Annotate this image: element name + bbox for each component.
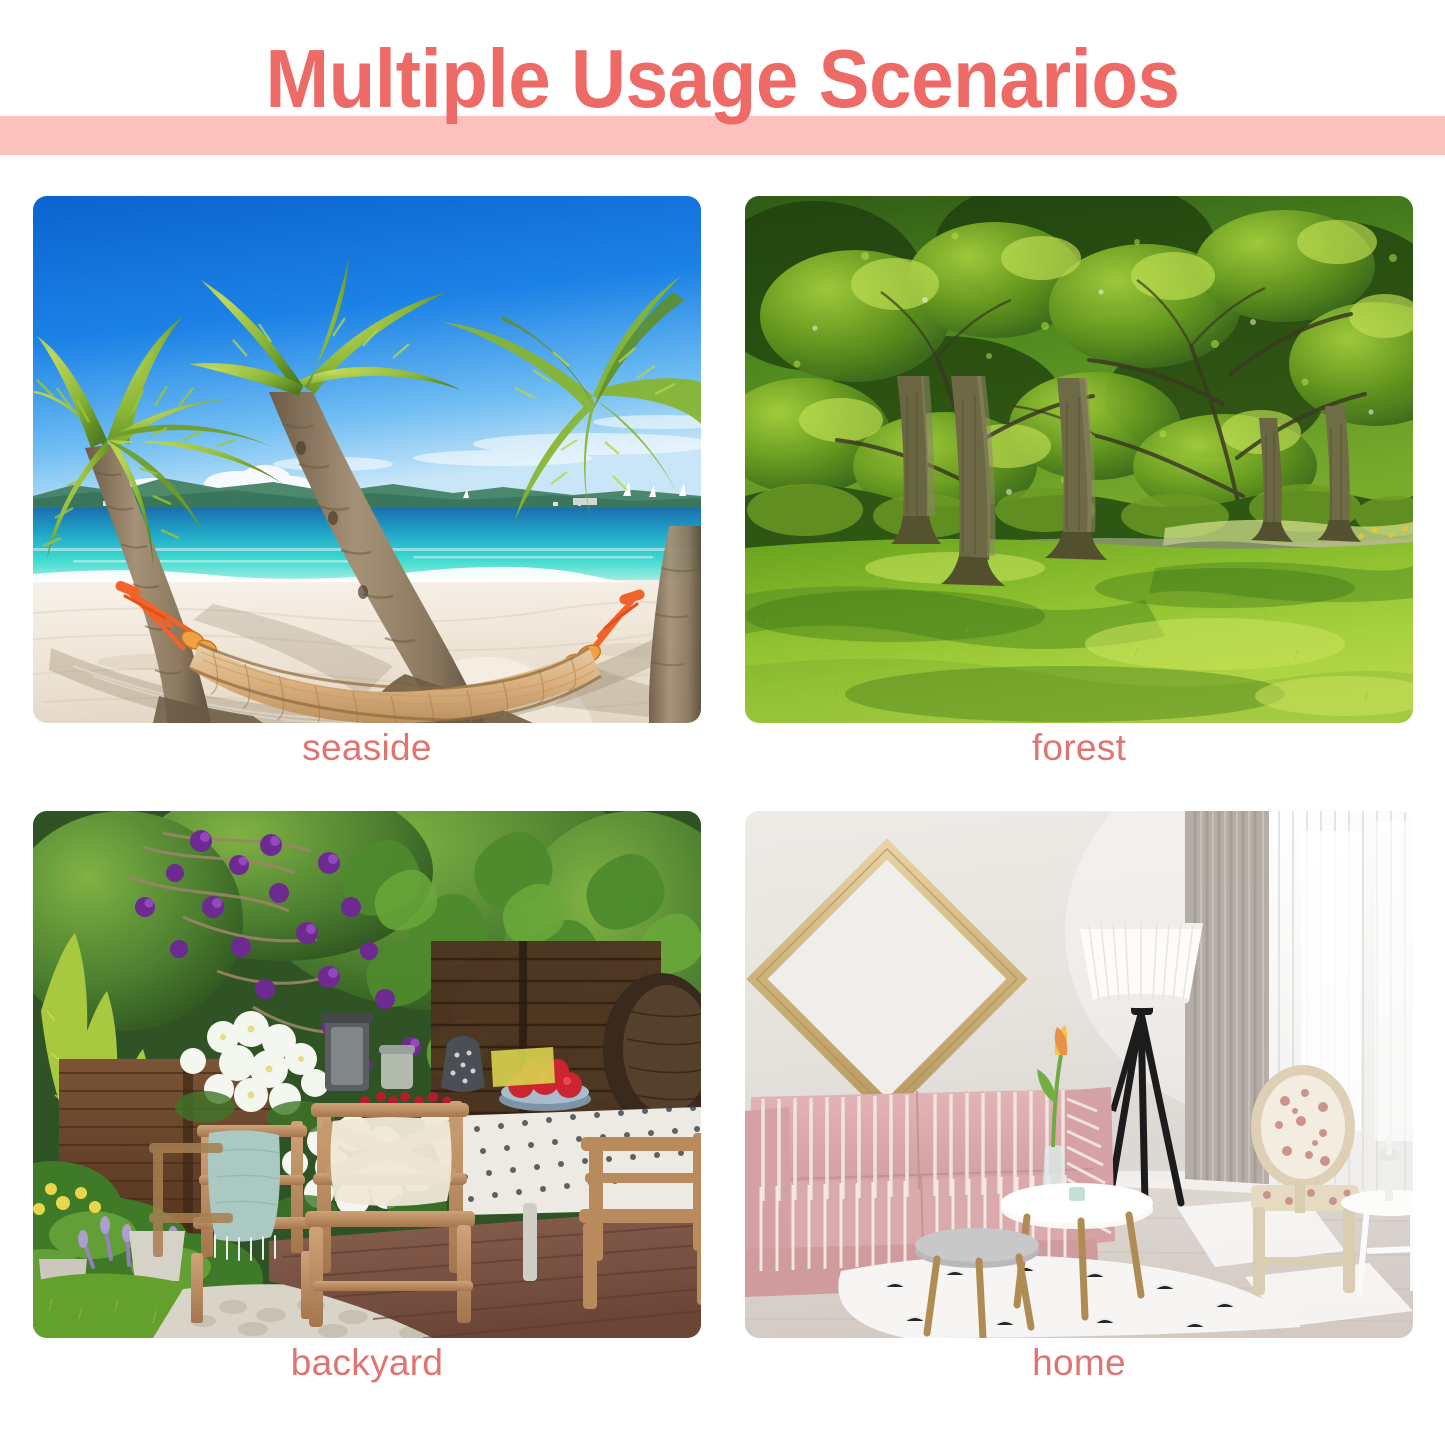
page-title: Multiple Usage Scenarios — [58, 33, 1387, 125]
home-illustration — [745, 811, 1413, 1338]
photo-backyard — [33, 811, 701, 1338]
gallery-item-seaside[interactable]: seaside — [33, 196, 701, 756]
gallery-item-home[interactable]: home — [745, 811, 1413, 1371]
page-header: Multiple Usage Scenarios — [0, 0, 1445, 160]
caption-backyard: backyard — [33, 1338, 701, 1371]
photo-seaside — [33, 196, 701, 723]
photo-forest — [745, 196, 1413, 723]
page-root: Multiple Usage Scenarios — [0, 0, 1445, 1445]
photo-home — [745, 811, 1413, 1338]
forest-illustration — [745, 196, 1413, 723]
caption-seaside: seaside — [33, 723, 701, 756]
scenario-gallery: seaside — [33, 196, 1413, 1411]
gallery-item-backyard[interactable]: backyard — [33, 811, 701, 1371]
gallery-item-forest[interactable]: forest — [745, 196, 1413, 756]
caption-forest: forest — [745, 723, 1413, 756]
seaside-illustration — [33, 196, 701, 723]
backyard-illustration — [33, 811, 701, 1338]
caption-home: home — [745, 1338, 1413, 1371]
